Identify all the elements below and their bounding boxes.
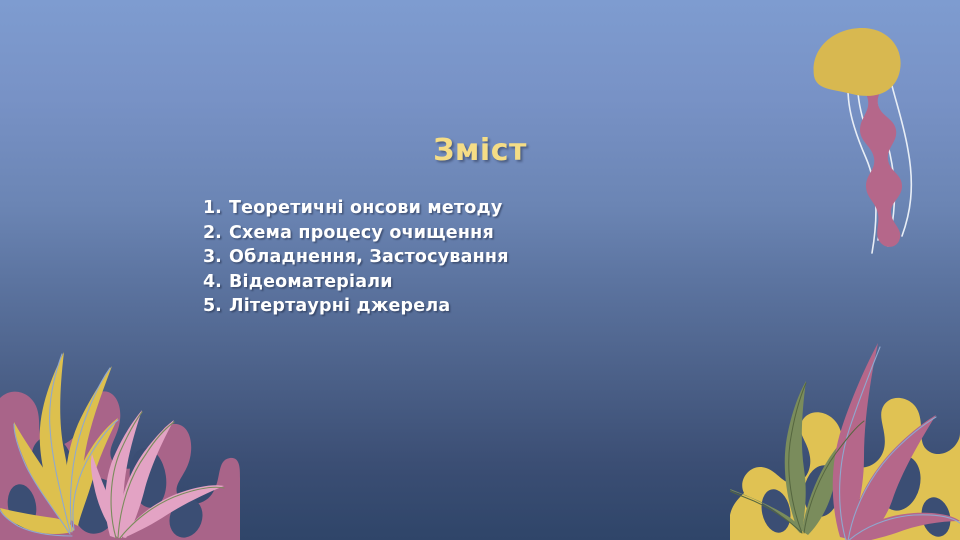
seaweed-right-stems bbox=[840, 347, 960, 540]
list-item-label: Обладнення, Застосування bbox=[229, 245, 509, 270]
coral-right-decoration bbox=[730, 315, 960, 540]
list-item-number: 2. bbox=[203, 221, 229, 246]
coral-blob-left bbox=[0, 391, 240, 540]
seaweed-left-stems-dark bbox=[111, 412, 224, 538]
list-item[interactable]: 1. Теоретичні онсови методу bbox=[203, 196, 509, 221]
coral-left-holes bbox=[4, 431, 207, 540]
jellyfish-dome bbox=[814, 28, 901, 96]
list-item[interactable]: 4. Відеоматеріали bbox=[203, 270, 509, 295]
contents-list: 1. Теоретичні онсови методу 2. Схема про… bbox=[203, 196, 509, 319]
seaweed-fronds-right bbox=[730, 343, 960, 540]
list-item[interactable]: 5. Літертаурні джерела bbox=[203, 294, 509, 319]
coral-blob-right bbox=[730, 398, 960, 540]
seaweed-left-stems bbox=[0, 354, 118, 536]
list-item-number: 3. bbox=[203, 245, 229, 270]
seaweed-right-stems-dark bbox=[730, 383, 864, 533]
coral-right-holes bbox=[758, 451, 955, 540]
list-item-number: 5. bbox=[203, 294, 229, 319]
list-item[interactable]: 2. Схема процесу очищення bbox=[203, 221, 509, 246]
list-item-number: 1. bbox=[203, 196, 229, 221]
coral-left-decoration bbox=[0, 310, 240, 540]
page-title: Зміст bbox=[0, 133, 960, 168]
list-item-label: Відеоматеріали bbox=[229, 270, 393, 295]
list-item-label: Літертаурні джерела bbox=[229, 294, 450, 319]
list-item-number: 4. bbox=[203, 270, 229, 295]
presentation-slide: Зміст 1. Теоретичні онсови методу 2. Схе… bbox=[0, 0, 960, 540]
list-item-label: Схема процесу очищення bbox=[229, 221, 494, 246]
seaweed-fronds-left bbox=[0, 352, 224, 538]
list-item-label: Теоретичні онсови методу bbox=[229, 196, 502, 221]
list-item[interactable]: 3. Обладнення, Застосування bbox=[203, 245, 509, 270]
